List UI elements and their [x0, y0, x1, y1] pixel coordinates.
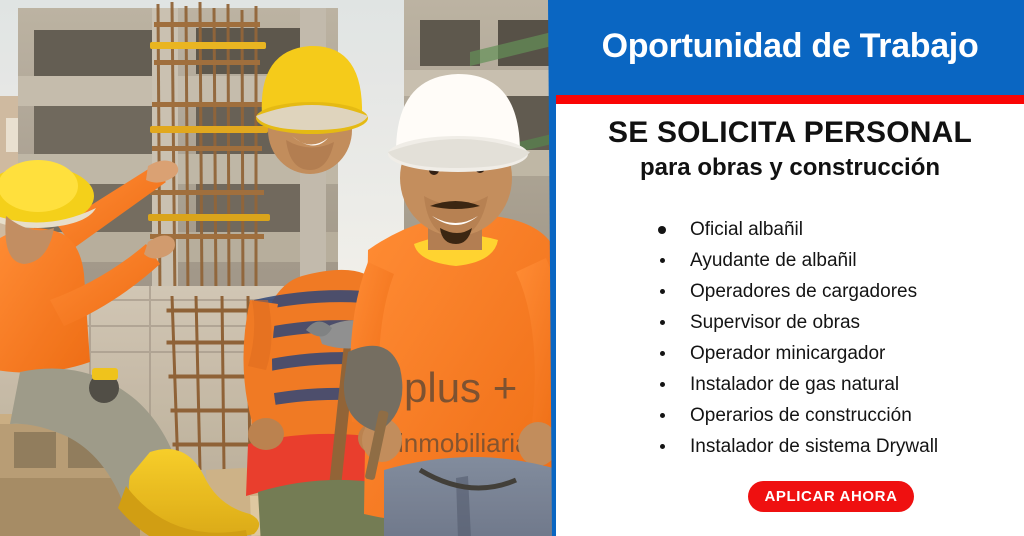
bullet-icon	[660, 289, 665, 294]
job-positions-list: Oficial albañil Ayudante de albañil Oper…	[652, 214, 1024, 462]
list-item: Instalador de gas natural	[652, 369, 1024, 400]
list-item-label: Instalador de gas natural	[690, 374, 899, 395]
photo-illustration: plus + inmobiliaria	[0, 0, 560, 536]
construction-workers-photo: plus + inmobiliaria	[0, 0, 560, 536]
list-item-label: Ayudante de albañil	[690, 250, 857, 271]
bullet-icon	[660, 382, 665, 387]
list-item-label: Operadores de cargadores	[690, 281, 917, 302]
list-item: Operadores de cargadores	[652, 276, 1024, 307]
list-item: Supervisor de obras	[652, 307, 1024, 338]
list-item: Operarios de construcción	[652, 400, 1024, 431]
bullet-icon	[660, 320, 665, 325]
apply-now-button[interactable]: APLICAR AHORA	[748, 481, 914, 512]
headline-primary: SE SOLICITA PERSONAL	[556, 116, 1024, 150]
bullet-icon	[660, 413, 665, 418]
header-bar: Oportunidad de Trabajo	[556, 0, 1024, 95]
list-item-label: Operarios de construcción	[690, 405, 912, 426]
bullet-icon	[658, 226, 666, 234]
job-advertisement-banner: plus + inmobiliaria	[0, 0, 1024, 536]
bullet-icon	[660, 444, 665, 449]
list-item-label: Oficial albañil	[690, 219, 803, 240]
page-title: Oportunidad de Trabajo	[602, 27, 979, 68]
headline-secondary: para obras y construcción	[556, 154, 1024, 183]
list-item-label: Operador minicargador	[690, 343, 885, 364]
headline-block: SE SOLICITA PERSONAL para obras y constr…	[556, 116, 1024, 182]
list-item-label: Supervisor de obras	[690, 312, 860, 333]
list-item: Operador minicargador	[652, 338, 1024, 369]
red-accent-rule	[556, 95, 1024, 104]
list-item: Ayudante de albañil	[652, 245, 1024, 276]
bullet-icon	[660, 351, 665, 356]
bullet-icon	[660, 258, 665, 263]
list-item: Oficial albañil	[652, 214, 1024, 245]
advertisement-content-panel: Oportunidad de Trabajo SE SOLICITA PERSO…	[556, 0, 1024, 536]
list-item: Instalador de sistema Drywall	[652, 431, 1024, 462]
list-item-label: Instalador de sistema Drywall	[690, 436, 938, 457]
